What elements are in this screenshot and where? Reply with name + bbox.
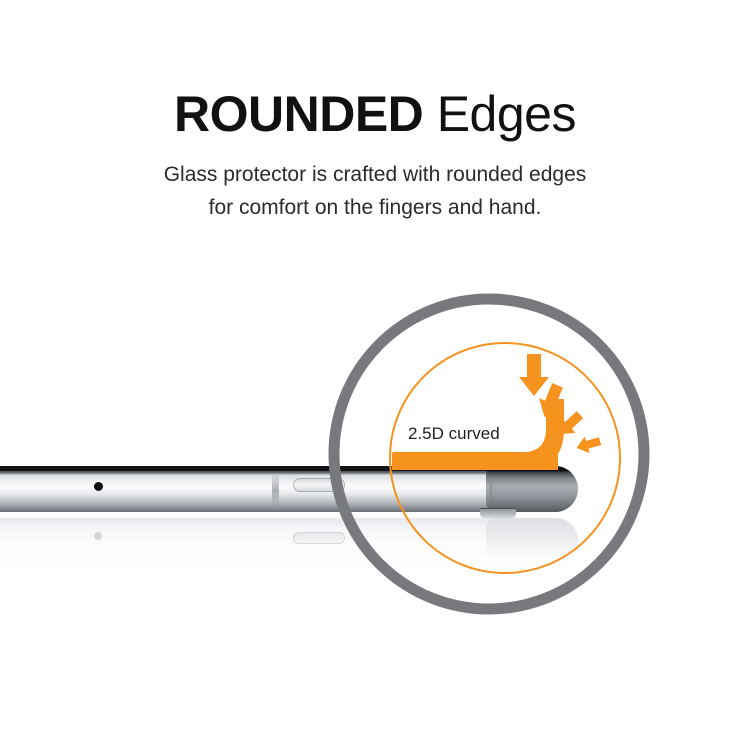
product-feature-image: ROUNDED Edges Glass protector is crafted… xyxy=(0,0,750,750)
phone-microphone-hole xyxy=(94,482,103,491)
headline-light-word: Edges xyxy=(437,86,576,142)
subtitle: Glass protector is crafted with rounded … xyxy=(0,158,750,224)
reflection-microphone-hole xyxy=(94,532,102,540)
headline-bold-word: ROUNDED xyxy=(174,86,423,142)
phone-antenna-band xyxy=(272,471,279,511)
product-illustration xyxy=(0,250,750,670)
phone-side-button xyxy=(293,478,345,492)
phone-cap-seam xyxy=(490,472,492,510)
reflection-cap xyxy=(486,518,578,562)
subtitle-line-1: Glass protector is crafted with rounded … xyxy=(0,158,750,191)
phone-side-profile xyxy=(0,466,578,514)
glass-curved-edge-icon xyxy=(524,399,586,487)
header-block: ROUNDED Edges Glass protector is crafted… xyxy=(0,86,750,224)
callout-label-2-5d-curved: 2.5D curved xyxy=(408,424,500,444)
phone-reflection xyxy=(0,518,578,570)
page-title: ROUNDED Edges xyxy=(0,86,750,142)
reflection-side-button xyxy=(293,532,345,544)
subtitle-line-2: for comfort on the fingers and hand. xyxy=(0,191,750,224)
phone-bottom-nub xyxy=(480,508,516,518)
